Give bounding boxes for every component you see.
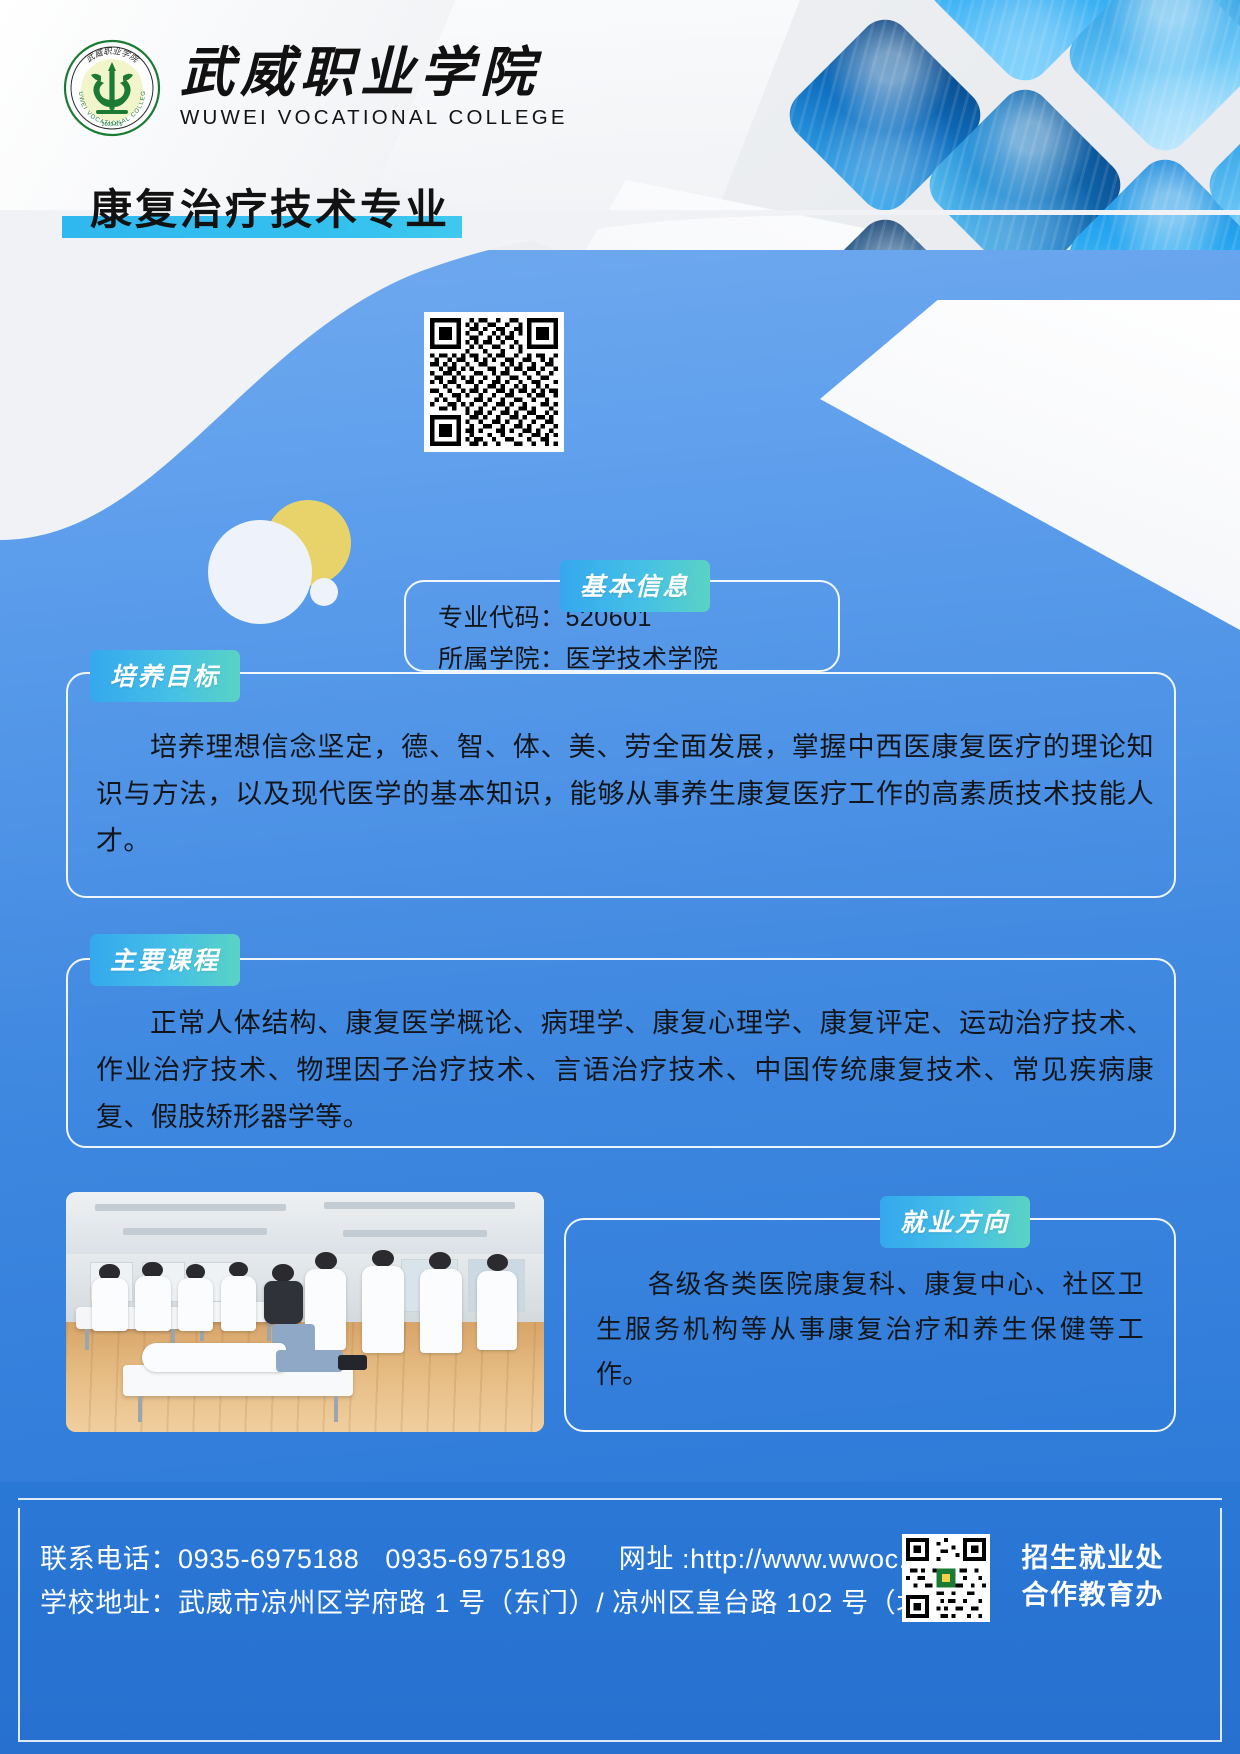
- section-badge-job: 就业方向: [880, 1196, 1030, 1248]
- footer-qr-pattern: [906, 1538, 986, 1618]
- employment-badge-wrap: 就业方向: [880, 1196, 1030, 1248]
- employment-text: 各级各类医院康复科、康复中心、社区卫生服务机构等从事康复治疗和养生保健等工作。: [596, 1262, 1144, 1398]
- college-seal-tree-icon: 2003.6.6 武威职业学院 WUWEI VOCATIONAL COLLEGE: [62, 38, 162, 138]
- poster-root: 2003.6.6 武威职业学院 WUWEI VOCATIONAL COLLEGE…: [0, 0, 1240, 1754]
- decorative-circle-small: [310, 578, 338, 606]
- footer-phone-2: 0935-6975189: [385, 1544, 566, 1574]
- rehabilitation-training-photo: [66, 1192, 544, 1432]
- college-name-en: WUWEI VOCATIONAL COLLEGE: [180, 106, 568, 130]
- footer-address-label: 学校地址：: [40, 1588, 178, 1618]
- college-logo-row: 2003.6.6 武威职业学院 WUWEI VOCATIONAL COLLEGE…: [62, 38, 568, 138]
- decorative-circle-white: [208, 520, 312, 624]
- footer: 联系电话：0935-69751880935-6975189网址 :http://…: [0, 1482, 1240, 1754]
- main-courses-badge-wrap: 主要课程: [90, 934, 240, 986]
- training-goal-text: 培养理想信念坚定，德、智、体、美、劳全面发展，掌握中西医康复医疗的理论知识与方法…: [96, 724, 1154, 865]
- qr-code-icon[interactable]: [424, 312, 564, 452]
- footer-contact-block: 联系电话：0935-69751880935-6975189网址 :http://…: [40, 1538, 979, 1625]
- section-badge-goal: 培养目标: [90, 650, 240, 702]
- footer-phone-label: 联系电话：: [40, 1544, 178, 1574]
- training-goal-badge-wrap: 培养目标: [90, 650, 240, 702]
- footer-phone-1: 0935-6975188: [178, 1544, 359, 1574]
- footer-dept-line-1: 招生就业处: [1022, 1540, 1165, 1577]
- section-badge-course: 主要课程: [90, 934, 240, 986]
- footer-address: 武威市凉州区学府路 1 号（东门）/ 凉州区皇台路 102 号（北门）: [178, 1588, 979, 1618]
- page-title: 康复治疗技术专业: [62, 176, 462, 241]
- footer-dept-line-2: 合作教育办: [1022, 1577, 1165, 1614]
- footer-website[interactable]: http://www.wwoc.cn: [690, 1544, 936, 1574]
- main-courses-text: 正常人体结构、康复医学概论、病理学、康复心理学、康复评定、运动治疗技术、作业治疗…: [96, 1000, 1154, 1141]
- college-name-cn: 武威职业学院: [180, 46, 568, 100]
- basic-info-college: 所属学院：医学技术学院: [438, 639, 719, 680]
- section-badge-basic: 基本信息: [560, 560, 710, 612]
- footer-address-line: 学校地址：武威市凉州区学府路 1 号（东门）/ 凉州区皇台路 102 号（北门）: [40, 1582, 979, 1626]
- basic-info-badge-wrap: 基本信息: [560, 560, 710, 612]
- footer-department-block: 招生就业处 合作教育办: [1022, 1540, 1165, 1615]
- footer-website-label: 网址 :: [619, 1544, 690, 1574]
- major-title-wrap: 康复治疗技术专业: [62, 176, 462, 241]
- footer-top-rule: [18, 1498, 1222, 1500]
- qr-code-icon[interactable]: [902, 1534, 990, 1622]
- qr-code-pattern: [430, 318, 558, 446]
- footer-phone-line: 联系电话：0935-69751880935-6975189网址 :http://…: [40, 1538, 979, 1582]
